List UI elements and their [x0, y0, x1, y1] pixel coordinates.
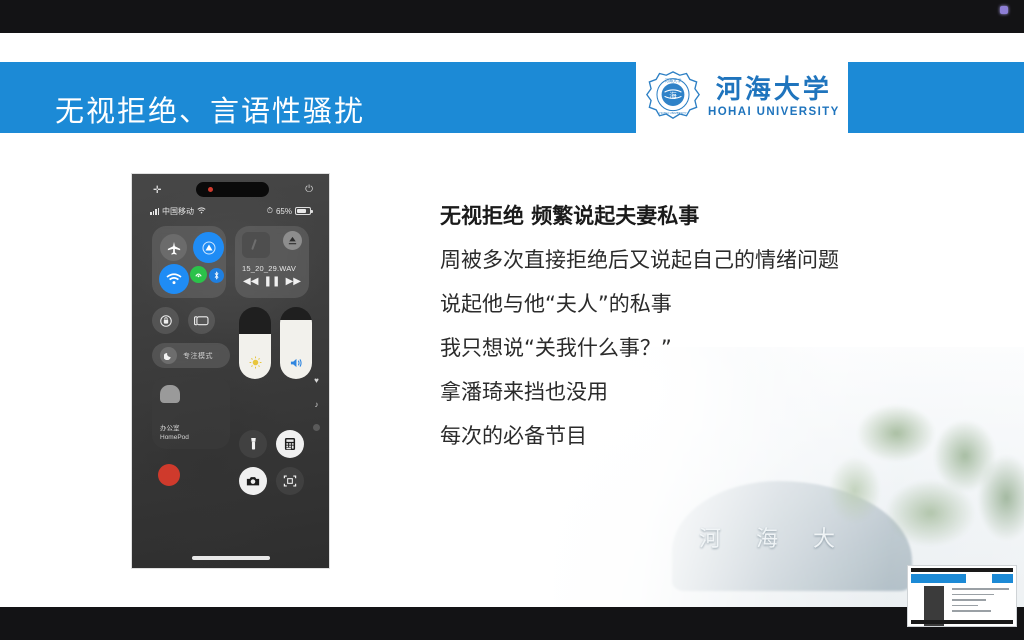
action-button-column-right [276, 430, 304, 495]
recording-indicator-dot [1000, 6, 1008, 14]
body-line: 周被多次直接拒绝后又说起自己的情绪问题 [440, 238, 980, 282]
rotation-lock-icon[interactable] [152, 307, 179, 334]
slide-body-text: 无视拒绝 频繁说起夫妻私事 周被多次直接拒绝后又说起自己的情绪问题 说起他与他“… [440, 194, 980, 458]
iphone-control-center-screenshot: ✛ ⏻ 中国移动 ⏱ 65% [132, 174, 329, 568]
airdrop-icon[interactable] [193, 232, 224, 263]
action-button-column-left [239, 430, 267, 495]
flashlight-icon[interactable] [239, 430, 267, 458]
sun-icon [239, 356, 271, 369]
volume-slider[interactable] [280, 307, 312, 379]
university-logo: 海 河海大学 HOHAI UNIVERSITY 河海大学 HOHAI UNIVE… [636, 62, 848, 133]
qr-scanner-icon[interactable] [276, 467, 304, 495]
letterbox-top [0, 0, 1024, 33]
battery-percent-label: 65% [276, 207, 292, 216]
media-controls[interactable]: ◀◀ ❚❚ ▶▶ [243, 276, 301, 287]
control-center: 15_20_29.WAV ◀◀ ❚❚ ▶▶ ♥ ♪ [132, 226, 329, 504]
picture-in-picture-slide-preview[interactable] [907, 565, 1017, 627]
forward-icon[interactable]: ▶▶ [286, 276, 301, 287]
letterbox-bottom [0, 607, 1024, 640]
brightness-slider[interactable] [239, 307, 271, 379]
screen-record-button[interactable] [158, 464, 180, 486]
rewind-icon[interactable]: ◀◀ [243, 276, 258, 287]
svg-text:河海大学: 河海大学 [665, 76, 682, 83]
now-playing-tile[interactable]: 15_20_29.WAV ◀◀ ❚❚ ▶▶ [235, 226, 309, 298]
moon-icon [160, 347, 177, 364]
focus-mode-label: 专注模式 [183, 351, 213, 361]
slide-canvas: 河 海 大 无视拒绝、言语性骚扰 海 河海大学 HOHAI UNIVERSITY… [0, 33, 1024, 607]
home-indicator [192, 556, 270, 560]
red-record-dot [208, 187, 213, 192]
logo-english-name: HOHAI UNIVERSITY [708, 106, 840, 118]
wifi-icon[interactable] [159, 264, 189, 294]
body-line: 我只想说“关我什么事？” [440, 326, 980, 370]
plus-icon: ✛ [153, 185, 161, 196]
logo-chinese-name: 河海大学 [716, 77, 832, 104]
svg-text:HOHAI UNIVERSITY: HOHAI UNIVERSITY [659, 111, 686, 115]
carrier-label: 中国移动 [162, 206, 194, 217]
airplay-icon[interactable] [283, 231, 302, 250]
pause-icon[interactable]: ❚❚ [264, 276, 281, 287]
speaker-icon [280, 357, 312, 369]
stone-inscription: 河 海 大 [699, 521, 849, 553]
homepod-tile[interactable]: 办公室 HomePod [152, 377, 230, 449]
logo-wordmark: 河海大学 HOHAI UNIVERSITY [708, 77, 840, 118]
camera-icon[interactable] [239, 467, 267, 495]
heart-icon: ♥ [314, 376, 319, 385]
hohai-university-seal-icon: 海 河海大学 HOHAI UNIVERSITY [646, 70, 700, 126]
body-line: 拿潘琦来挡也没用 [440, 370, 980, 414]
album-art [242, 232, 270, 258]
calculator-icon[interactable] [276, 430, 304, 458]
homepod-icon [160, 385, 180, 403]
body-line: 无视拒绝 频繁说起夫妻私事 [440, 194, 980, 238]
power-icon: ⏻ [305, 184, 313, 195]
pip-header-bar [911, 574, 1013, 583]
sliders-group [239, 307, 312, 449]
homepod-labels: 办公室 HomePod [160, 425, 189, 443]
bluetooth-icon[interactable] [209, 268, 224, 283]
volume-fill [280, 320, 312, 379]
alarm-icon: ⏱ [267, 206, 273, 216]
signal-bars-icon [150, 208, 159, 215]
dot-icon [313, 424, 320, 431]
focus-mode-tile[interactable]: 专注模式 [152, 343, 230, 368]
screen-mirroring-icon[interactable] [188, 307, 215, 334]
slide-title: 无视拒绝、言语性骚扰 [55, 88, 365, 130]
photo-stone [672, 481, 912, 591]
connectivity-tile[interactable] [152, 226, 226, 298]
battery-icon [295, 207, 311, 215]
homepod-room: 办公室 [160, 425, 189, 434]
homepod-device: HomePod [160, 434, 189, 443]
wifi-icon [197, 207, 206, 216]
pip-top-bar [911, 568, 1013, 572]
track-title: 15_20_29.WAV [242, 264, 296, 273]
music-note-icon: ♪ [315, 400, 319, 409]
phone-status-bar: 中国移动 ⏱ 65% [132, 204, 329, 218]
body-line: 说起他与他“夫人”的私事 [440, 282, 980, 326]
slide-header-bar: 无视拒绝、言语性骚扰 海 河海大学 HOHAI UNIVERSITY 河海大学 … [0, 62, 1024, 133]
cellular-icon[interactable] [190, 266, 207, 283]
dynamic-island [196, 182, 269, 197]
presentation-screen: 河 海 大 无视拒绝、言语性骚扰 海 河海大学 HOHAI UNIVERSITY… [0, 0, 1024, 640]
body-line: 每次的必备节目 [440, 414, 980, 458]
svg-text:海: 海 [669, 90, 677, 100]
pip-logo-panel [966, 574, 992, 583]
pip-bottom-bar [911, 620, 1013, 624]
side-icon-column: ♥ ♪ [313, 376, 320, 431]
airplane-icon[interactable] [160, 234, 187, 261]
pip-text-lines [952, 588, 1011, 616]
